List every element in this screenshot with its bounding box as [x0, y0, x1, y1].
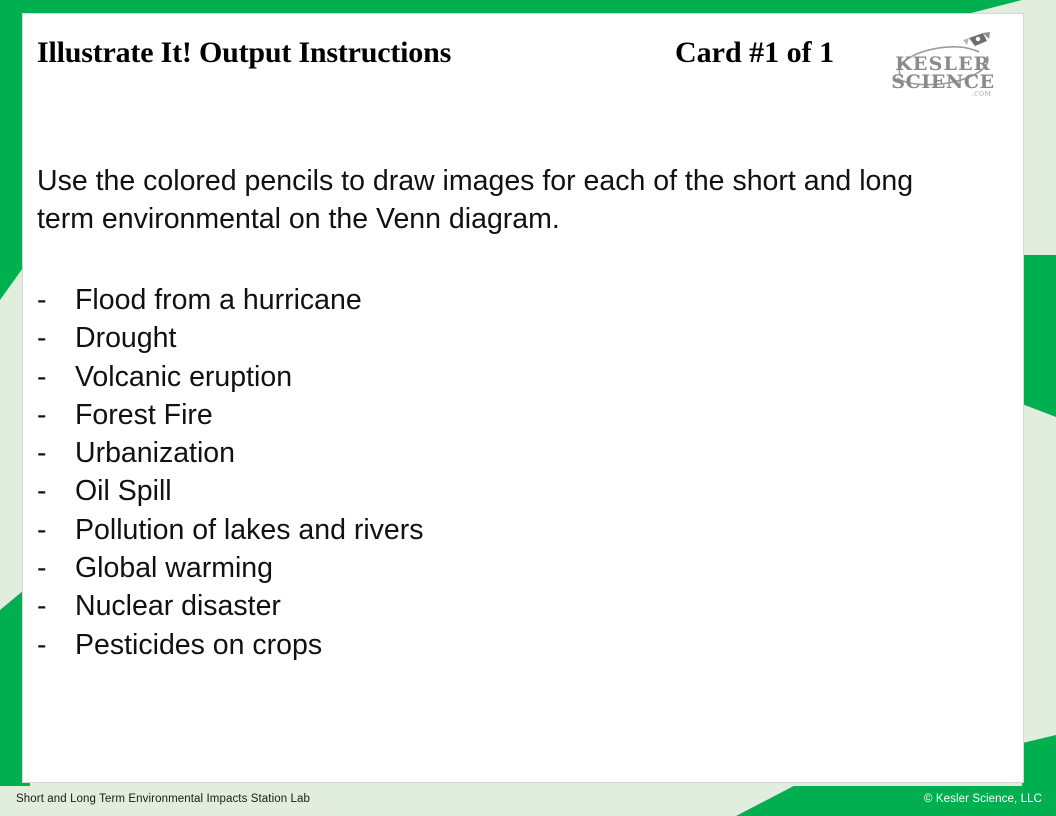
slide-canvas: Illustrate It! Output Instructions Card … [0, 0, 1056, 816]
list-item-label: Drought [75, 319, 176, 357]
list-item: -Urbanization [37, 434, 937, 472]
list-item: -Volcanic eruption [37, 358, 937, 396]
list-item-label: Urbanization [75, 434, 235, 472]
list-item: -Pesticides on crops [37, 626, 937, 664]
list-item: -Oil Spill [37, 472, 937, 510]
slide-footer: Short and Long Term Environmental Impact… [0, 786, 1056, 816]
list-item: -Pollution of lakes and rivers [37, 511, 937, 549]
footer-copyright: © Kesler Science, LLC [924, 793, 1042, 805]
list-item: -Drought [37, 319, 937, 357]
content-card: Illustrate It! Output Instructions Card … [22, 13, 1024, 783]
list-item-label: Global warming [75, 549, 273, 587]
frame-right-green-band-upper [1022, 255, 1056, 417]
list-item: -Flood from a hurricane [37, 281, 937, 319]
list-item-marker: - [37, 626, 75, 664]
list-item: -Nuclear disaster [37, 587, 937, 625]
logo-line-2: SCIENCE [891, 71, 994, 93]
impact-list: -Flood from a hurricane-Drought-Volcanic… [37, 281, 937, 664]
list-item: -Global warming [37, 549, 937, 587]
list-item-marker: - [37, 396, 75, 434]
list-item-marker: - [37, 281, 75, 319]
list-item-label: Oil Spill [75, 472, 172, 510]
logo-line-3: .COM [972, 91, 991, 98]
rocket-icon [963, 32, 990, 46]
list-item-label: Pesticides on crops [75, 626, 322, 664]
slide-header: Illustrate It! Output Instructions Card … [23, 14, 1023, 98]
list-item-marker: - [37, 511, 75, 549]
footer-lab-title: Short and Long Term Environmental Impact… [16, 793, 310, 805]
kesler-science-logo: KESLER SCIENCE .COM [883, 30, 1003, 100]
list-item-marker: - [37, 319, 75, 357]
list-item-marker: - [37, 587, 75, 625]
list-item-marker: - [37, 434, 75, 472]
list-item-label: Nuclear disaster [75, 587, 281, 625]
list-item-label: Flood from a hurricane [75, 281, 362, 319]
list-item-label: Forest Fire [75, 396, 213, 434]
page-title: Illustrate It! Output Instructions [37, 36, 451, 70]
list-item: -Forest Fire [37, 396, 937, 434]
list-item-label: Pollution of lakes and rivers [75, 511, 424, 549]
list-item-marker: - [37, 358, 75, 396]
list-item-label: Volcanic eruption [75, 358, 292, 396]
card-counter: Card #1 of 1 [675, 36, 834, 70]
instruction-paragraph: Use the colored pencils to draw images f… [37, 162, 947, 238]
list-item-marker: - [37, 549, 75, 587]
list-item-marker: - [37, 472, 75, 510]
